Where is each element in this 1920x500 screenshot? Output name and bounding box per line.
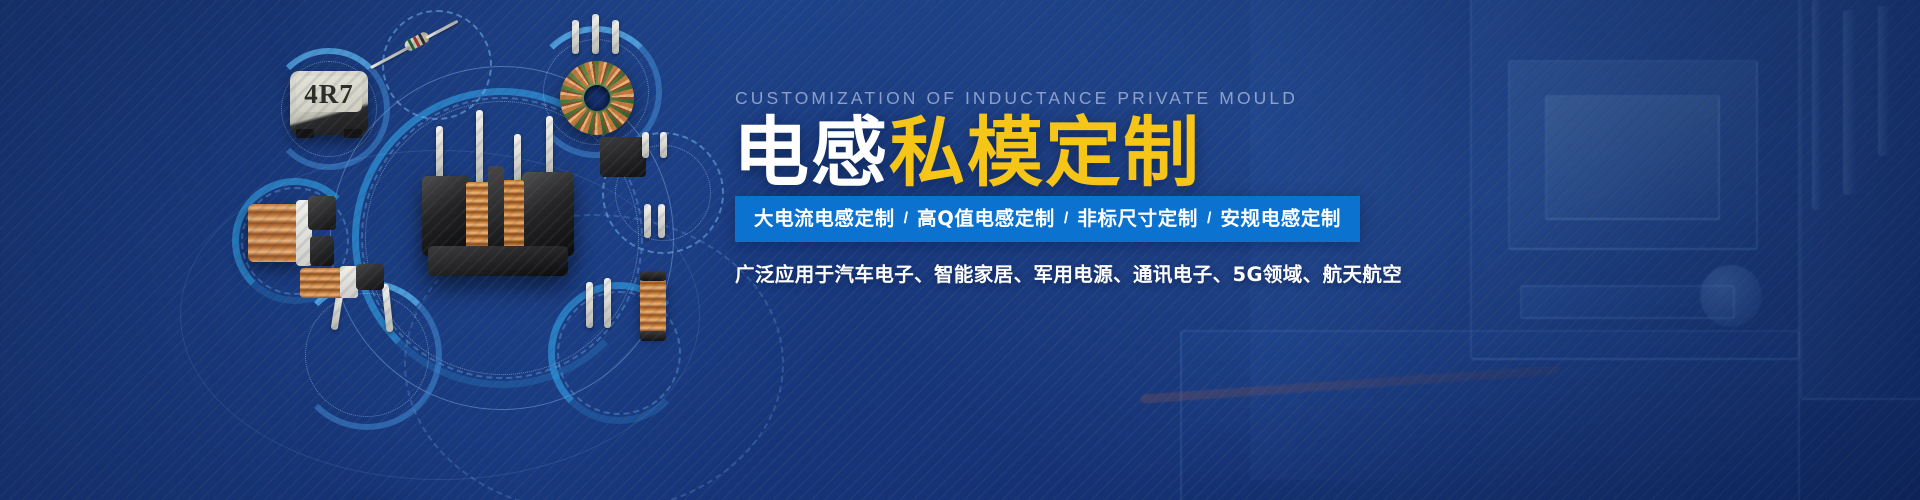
banner-headline: 电感私模定制 <box>733 112 1201 194</box>
banner-eyebrow-english: CUSTOMIZATION OF INDUCTANCE PRIVATE MOUL… <box>735 88 1298 108</box>
headline-yellow-part: 私模定制 <box>889 108 1201 197</box>
feature-item-2: 高Q值电感定制 <box>917 208 1055 230</box>
feature-item-3: 非标尺寸定制 <box>1077 208 1198 230</box>
banner-description: 广泛应用于汽车电子、智能家居、军用电源、通讯电子、5G领域、航天航空 <box>735 263 1402 287</box>
feature-list-bar[interactable]: 大电流电感定制 / 高Q值电感定制 / 非标尺寸定制 / 安规电感定制 <box>735 196 1360 242</box>
banner-text-block: CUSTOMIZATION OF INDUCTANCE PRIVATE MOUL… <box>735 0 1875 500</box>
feature-item-4: 安规电感定制 <box>1220 208 1341 230</box>
feature-separator: / <box>895 210 917 228</box>
product-banner: 4R7 <box>0 0 1920 500</box>
feature-separator: / <box>1198 210 1220 228</box>
smd-inductor-label: 4R7 <box>290 78 368 110</box>
headline-white-part: 电感 <box>733 108 889 197</box>
feature-separator: / <box>1055 210 1077 228</box>
feature-item-1: 大电流电感定制 <box>754 208 895 230</box>
